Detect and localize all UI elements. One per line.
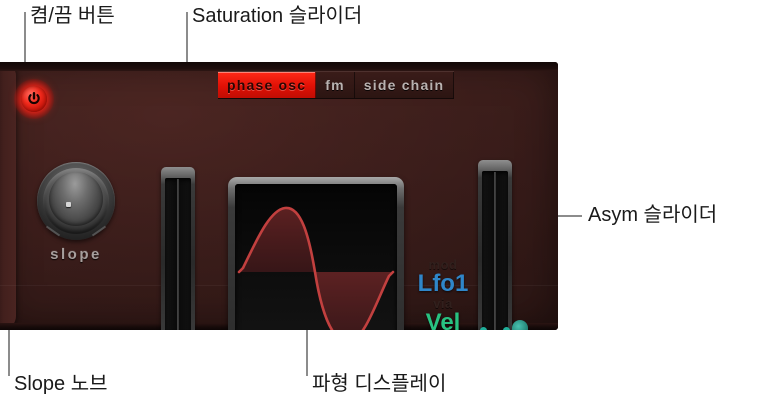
annotation-asym-slider-text: Asym 슬라이더 (588, 203, 717, 227)
asym-slider-rail (494, 172, 496, 330)
annotation-slope-knob-text: Slope 노브 (14, 372, 108, 396)
asym-slider-track[interactable] (478, 160, 512, 330)
slope-knob-label: slope (30, 246, 122, 263)
knob-cap (49, 172, 103, 226)
phase-oscillator-panel: phase osc fm side chain slope saturation (0, 62, 558, 330)
panel-top-bar (0, 62, 558, 71)
annotation-waveform-display-text: 파형 디스플레이 (312, 372, 446, 396)
annotation-power-button-leader (24, 12, 26, 66)
asym-slider[interactable]: asym (478, 160, 512, 330)
annotation-power-button-text: 켬/끔 버튼 (30, 4, 115, 28)
mod-label: mod (406, 258, 480, 271)
waveform-screen (235, 184, 397, 330)
via-label: via (406, 297, 480, 310)
waveform-upper-fill (239, 208, 315, 272)
knob-pointer-indicator (66, 202, 71, 207)
power-button[interactable] (14, 79, 54, 119)
tab-side-chain[interactable]: side chain (355, 72, 454, 98)
asym-mod-dot-right-icon (503, 327, 510, 330)
mod-source-value[interactable]: Lfo1 (406, 272, 480, 296)
slope-knob-group: slope (30, 162, 122, 263)
waveform-display[interactable] (228, 177, 404, 330)
saturation-slider-track[interactable] (161, 167, 195, 330)
tab-fm[interactable]: fm (316, 72, 355, 98)
modulation-routing: mod Lfo1 via Vel (406, 258, 480, 330)
tab-phase-osc[interactable]: phase osc (218, 72, 316, 98)
power-icon (21, 86, 47, 112)
asym-mod-range-right-handle[interactable] (512, 320, 528, 330)
saturation-slider-rail (177, 179, 179, 330)
slope-knob[interactable] (37, 162, 115, 240)
tab-strip: phase osc fm side chain (218, 71, 454, 99)
saturation-slider[interactable]: saturation (161, 167, 195, 330)
annotation-saturation-slider-text: Saturation 슬라이더 (192, 4, 362, 28)
asym-mod-dot-left-icon (480, 327, 487, 330)
